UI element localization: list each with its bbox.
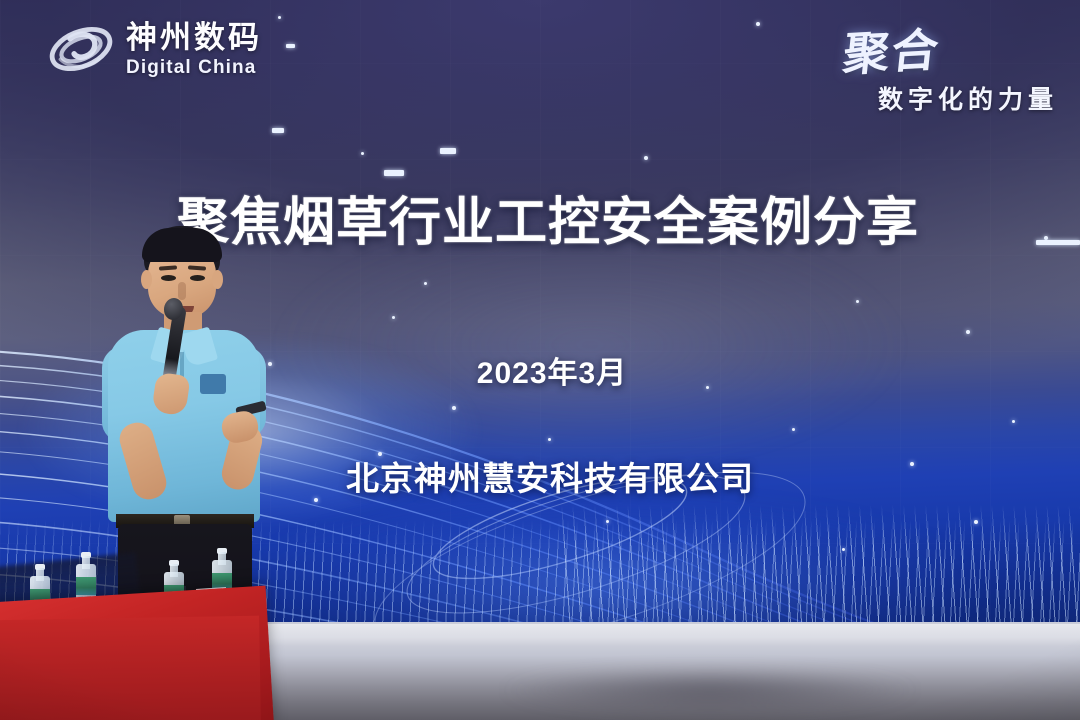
sparkle-particle bbox=[856, 300, 859, 303]
sparkle-particle bbox=[286, 44, 295, 48]
event-tagline: 数字化的力量 bbox=[844, 80, 1058, 116]
sparkle-particle bbox=[424, 282, 427, 285]
floor-shadow bbox=[430, 660, 990, 720]
sparkle-particle bbox=[966, 330, 970, 334]
event-branding: 聚合 数字化的力量 bbox=[844, 16, 1058, 116]
sparkle-particle bbox=[272, 128, 284, 133]
sparkle-particle bbox=[792, 428, 795, 431]
presenter-hair-top bbox=[142, 228, 222, 262]
light-filaments-right bbox=[560, 505, 1080, 640]
bottle-label bbox=[76, 577, 96, 595]
presenter-chest-badge-icon bbox=[200, 374, 226, 394]
presenter-eye-left bbox=[161, 275, 176, 281]
sparkle-particle bbox=[361, 152, 364, 155]
event-calligraphy: 聚合 bbox=[840, 14, 944, 85]
sparkle-particle bbox=[606, 520, 609, 523]
sparkle-particle bbox=[1012, 420, 1015, 423]
sparkle-particle bbox=[644, 156, 648, 160]
presenter-ear-left bbox=[141, 270, 152, 289]
brand-name-cn: 神州数码 bbox=[126, 22, 262, 53]
sparkle-particle bbox=[974, 520, 978, 524]
digital-china-wordmark: 神州数码 Digital China bbox=[126, 22, 262, 77]
red-table-skirt bbox=[0, 616, 261, 720]
sparkle-particle bbox=[548, 438, 551, 441]
brand-name-en: Digital China bbox=[126, 58, 262, 77]
presenter-nose bbox=[178, 282, 186, 300]
sparkle-particle bbox=[452, 406, 456, 410]
digital-china-spiral-logo-icon bbox=[46, 18, 116, 80]
presenter-eye-right bbox=[190, 275, 205, 281]
digital-china-branding: 神州数码 Digital China bbox=[46, 18, 262, 80]
sparkle-particle bbox=[278, 16, 281, 19]
presenter-ear-right bbox=[212, 270, 223, 289]
sparkle-particle bbox=[756, 22, 760, 26]
sparkle-particle bbox=[392, 316, 395, 319]
sparkle-particle bbox=[384, 170, 404, 176]
sparkle-particle bbox=[842, 548, 845, 551]
conference-stage-photo: 神州数码 Digital China 聚合 数字化的力量 聚焦烟草行业工控安全案… bbox=[0, 0, 1080, 720]
sparkle-particle bbox=[440, 148, 456, 154]
